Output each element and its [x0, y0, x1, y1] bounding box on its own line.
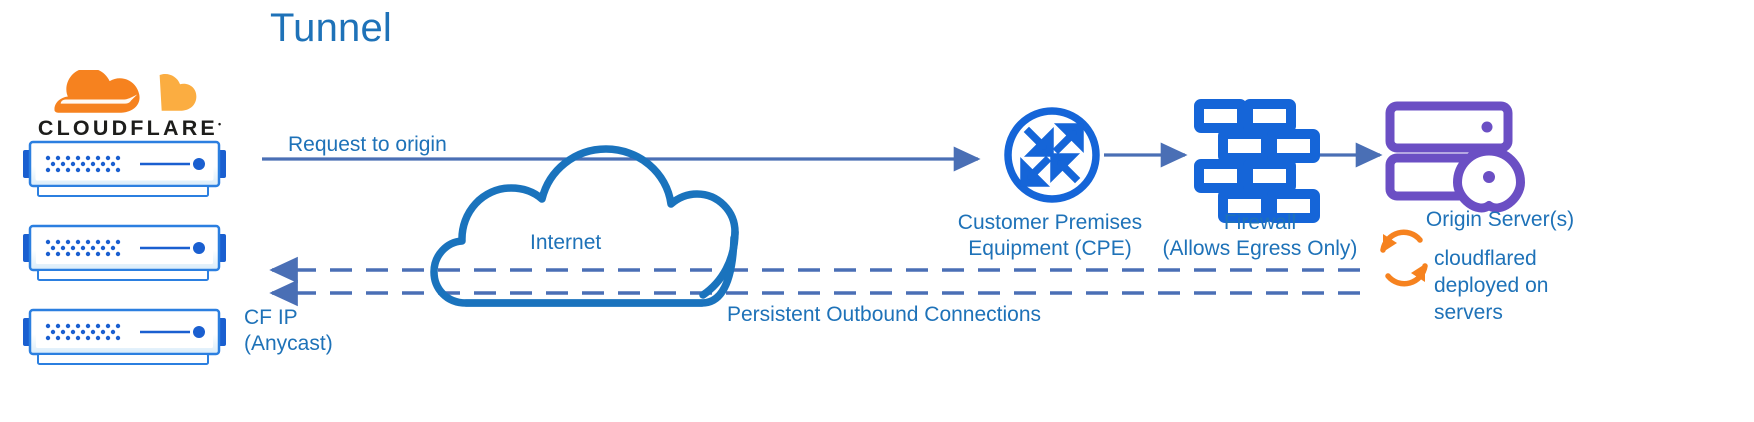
request-to-origin-label: Request to origin [288, 132, 447, 158]
tunnel-architecture-diagram: Tunnel CLOUDFLARE• [0, 0, 1754, 422]
cloudflare-edge-server-2[interactable] [22, 222, 227, 284]
cloudflared-label-line3: servers [1434, 299, 1548, 326]
cloudflare-edge-server-1[interactable] [22, 138, 227, 200]
cloudflared-sync-arrows-icon [1383, 232, 1425, 283]
cloudflare-logo: CLOUDFLARE• [22, 70, 237, 148]
cloudflared-label-line2: deployed on [1434, 272, 1548, 299]
cloudflare-wordmark-text: CLOUDFLARE [38, 116, 218, 140]
origin-server-rack-pin-icon[interactable] [1390, 106, 1521, 209]
firewall-label-line1: Firewall [1150, 210, 1370, 236]
router-device-icon [22, 138, 227, 200]
page-title: Tunnel [270, 6, 392, 51]
firewall-brick-wall-icon[interactable] [1199, 104, 1315, 218]
cpe-label-line2: Equipment (CPE) [930, 236, 1170, 262]
router-device-icon [22, 222, 227, 284]
cloudflared-deployed-label: cloudflared deployed on servers [1434, 245, 1548, 326]
firewall-label: Firewall (Allows Egress Only) [1150, 210, 1370, 262]
cf-ip-anycast-label: CF IP (Anycast) [244, 305, 333, 357]
cf-ip-label-line2: (Anycast) [244, 331, 333, 357]
firewall-label-line2: (Allows Egress Only) [1150, 236, 1370, 262]
cpe-label: Customer Premises Equipment (CPE) [930, 210, 1170, 262]
internet-label: Internet [530, 230, 601, 256]
cloudflare-edge-server-3[interactable] [22, 306, 227, 368]
cloudflare-cloud-logo-icon [22, 70, 237, 122]
persistent-outbound-connections-label: Persistent Outbound Connections [727, 302, 1041, 328]
cf-ip-label-line1: CF IP [244, 305, 333, 331]
cloudflared-label-line1: cloudflared [1434, 245, 1548, 272]
cpe-router-circle-icon[interactable] [1008, 111, 1096, 199]
origin-servers-label: Origin Server(s) [1350, 207, 1650, 233]
cpe-label-line1: Customer Premises [930, 210, 1170, 236]
router-device-icon [22, 306, 227, 368]
trademark-symbol: • [218, 119, 221, 129]
